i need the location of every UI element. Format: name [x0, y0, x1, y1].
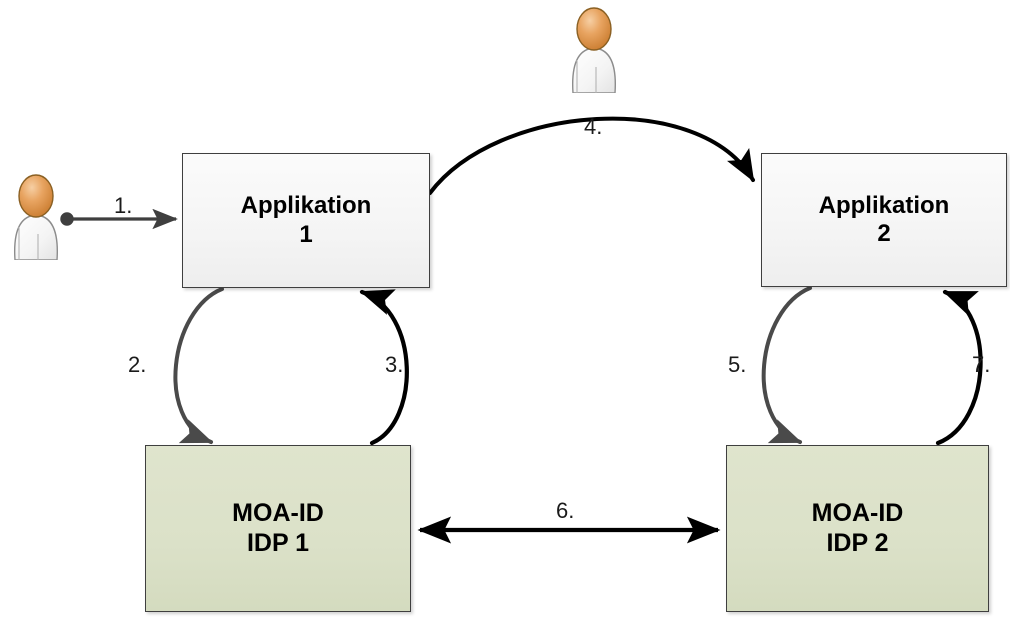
user-left-icon: [5, 172, 67, 260]
node-moaid-idp-2[interactable]: MOA-ID IDP 2: [726, 445, 989, 612]
diagram-canvas: Applikation 1 Applikation 2 MOA-ID IDP 1…: [0, 0, 1010, 618]
step-label-5: 5.: [728, 352, 746, 378]
node-applikation-2-line2: 2: [877, 220, 890, 248]
connector-step-2: [175, 289, 222, 442]
step-label-2: 2.: [128, 352, 146, 378]
step-label-6: 6.: [556, 498, 574, 524]
node-applikation-2[interactable]: Applikation 2: [761, 153, 1007, 287]
connector-step-5: [764, 288, 810, 442]
step-label-1: 1.: [114, 193, 132, 219]
node-moaid-idp-1[interactable]: MOA-ID IDP 1: [145, 445, 411, 612]
step-label-4: 4.: [584, 114, 602, 140]
node-moaid-idp-2-line2: IDP 2: [826, 529, 888, 559]
node-applikation-1[interactable]: Applikation 1: [182, 153, 430, 288]
step-label-3: 3.: [385, 352, 403, 378]
node-moaid-idp-2-line1: MOA-ID: [812, 499, 904, 529]
node-moaid-idp-1-line2: IDP 1: [247, 529, 309, 559]
node-moaid-idp-1-line1: MOA-ID: [232, 499, 324, 529]
step-label-7: 7.: [972, 352, 990, 378]
node-applikation-1-line1: Applikation: [241, 192, 372, 220]
node-applikation-2-line1: Applikation: [819, 192, 950, 220]
user-top-icon: [563, 5, 625, 93]
node-applikation-1-line2: 1: [299, 221, 312, 249]
